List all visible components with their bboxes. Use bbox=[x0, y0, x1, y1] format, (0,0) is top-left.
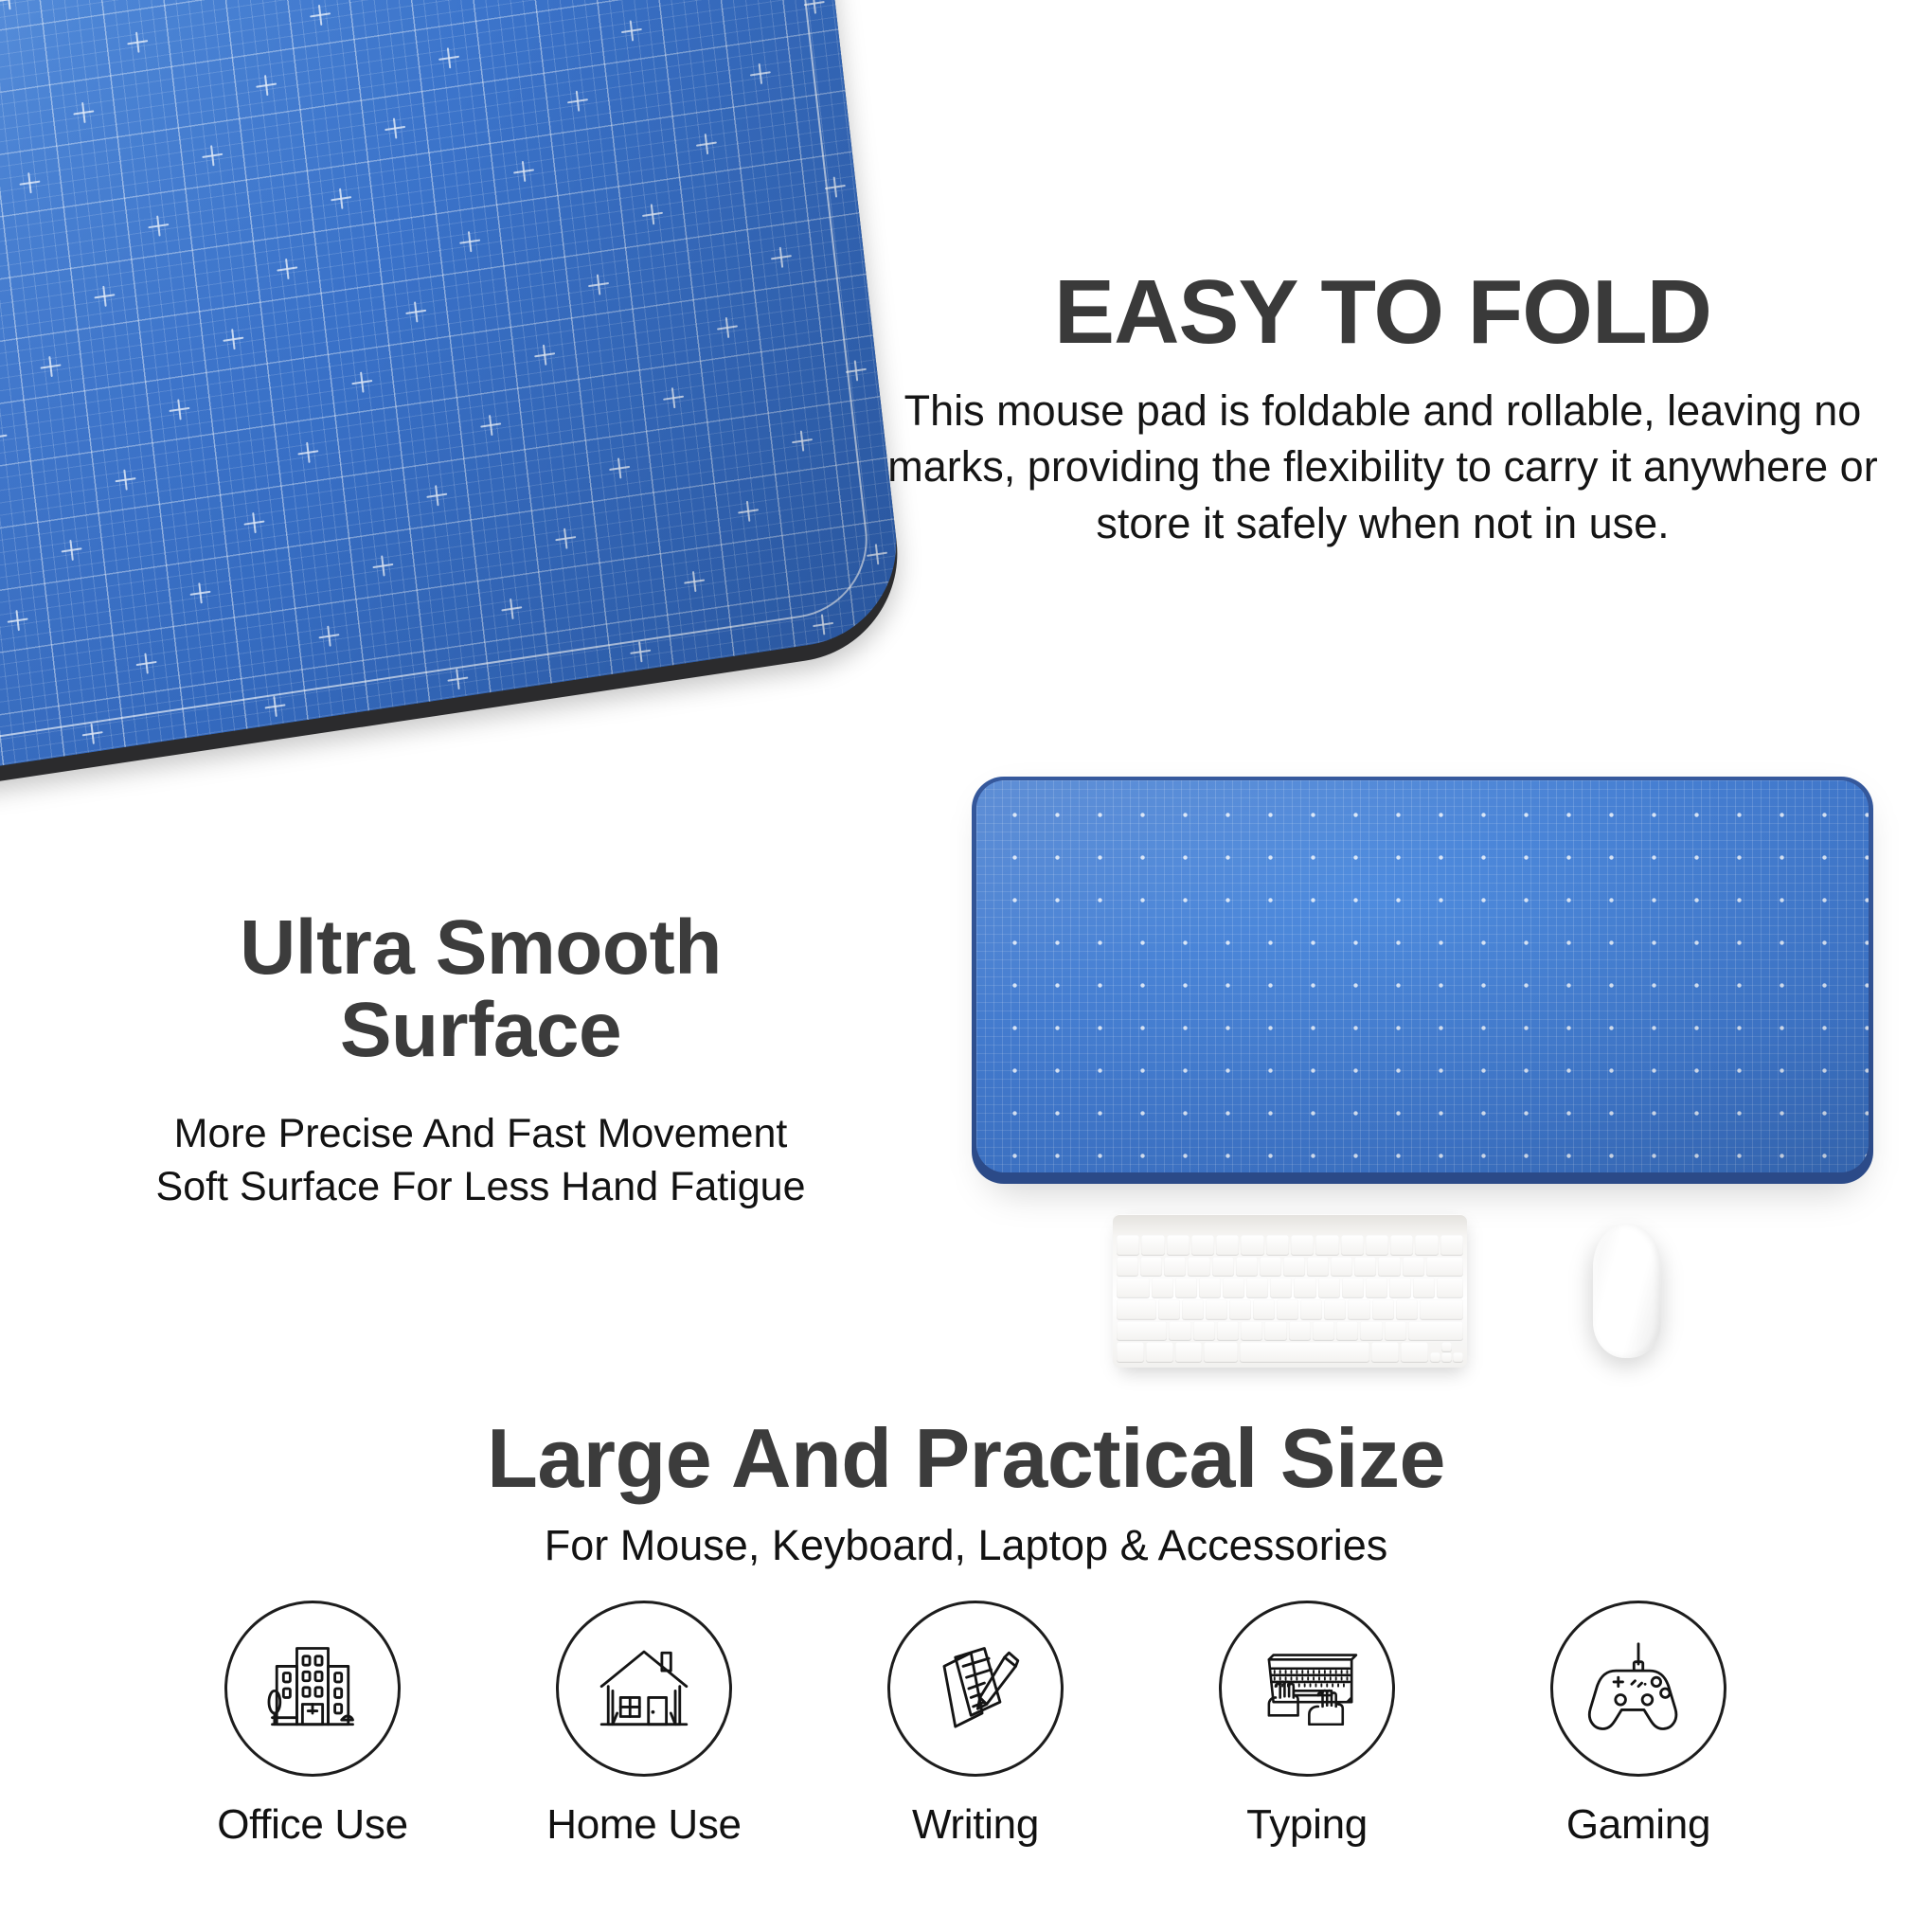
paper-and-pencil-icon bbox=[920, 1633, 1031, 1744]
feature-home-use[interactable]: Home Use bbox=[502, 1601, 786, 1849]
white-wireless-keyboard bbox=[1113, 1214, 1467, 1368]
keyboard-key bbox=[1366, 1278, 1387, 1297]
office-building-icon bbox=[257, 1633, 368, 1744]
feature-gaming[interactable]: Gaming bbox=[1496, 1601, 1780, 1849]
keyboard-key bbox=[1294, 1278, 1315, 1297]
keyboard-key bbox=[1117, 1257, 1138, 1277]
keyboard-key bbox=[1371, 1342, 1399, 1362]
keyboard-key-rows bbox=[1117, 1235, 1463, 1362]
keyboard-key bbox=[1441, 1342, 1452, 1351]
tilted-mouse-pad bbox=[0, 0, 908, 808]
writing-icon-circle bbox=[887, 1601, 1064, 1777]
keyboard-key bbox=[1441, 1352, 1452, 1362]
page-title-easy-to-fold: EASY TO FOLD bbox=[852, 267, 1913, 358]
ultra-smooth-heading: Ultra Smooth Surface bbox=[52, 907, 909, 1072]
keyboard-row bbox=[1117, 1278, 1463, 1297]
keyboard-key bbox=[1401, 1342, 1428, 1362]
keyboard-key bbox=[1158, 1299, 1180, 1319]
keyboard-body bbox=[1113, 1214, 1467, 1368]
ultra-smooth-heading-line2: Surface bbox=[340, 987, 621, 1073]
feature-label-gaming: Gaming bbox=[1566, 1801, 1710, 1849]
keyboard-key bbox=[1390, 1235, 1413, 1255]
flat-mouse-pad bbox=[972, 777, 1873, 1184]
keyboard-key bbox=[1341, 1235, 1364, 1255]
keyboard-key bbox=[1175, 1278, 1197, 1297]
keyboard-row bbox=[1117, 1321, 1463, 1341]
white-wireless-mouse bbox=[1593, 1224, 1661, 1358]
large-practical-size-section: Large And Practical Size For Mouse, Keyb… bbox=[189, 1417, 1743, 1570]
keyboard-key bbox=[1289, 1321, 1311, 1341]
keyboard-key bbox=[1117, 1342, 1144, 1362]
feature-typing[interactable]: Typing bbox=[1165, 1601, 1449, 1849]
keyboard-key bbox=[1264, 1321, 1286, 1341]
keyboard-key bbox=[1164, 1257, 1186, 1277]
flat-pad-sheen bbox=[976, 780, 1869, 1172]
keyboard-key bbox=[1389, 1278, 1411, 1297]
feature-label-typing: Typing bbox=[1246, 1801, 1368, 1849]
ultra-smooth-subtext-line2: Soft Surface For Less Hand Fatigue bbox=[156, 1164, 806, 1209]
feature-label-home-use: Home Use bbox=[546, 1801, 741, 1849]
keyboard-key bbox=[1182, 1299, 1204, 1319]
keyboard-key bbox=[1378, 1257, 1400, 1277]
keyboard-key bbox=[1300, 1299, 1322, 1319]
keyboard-key bbox=[1193, 1321, 1215, 1341]
feature-label-writing: Writing bbox=[912, 1801, 1039, 1849]
keyboard-key bbox=[1331, 1257, 1352, 1277]
keyboard-key bbox=[1313, 1321, 1334, 1341]
keyboard-key bbox=[1117, 1235, 1139, 1255]
keyboard-key bbox=[1167, 1235, 1190, 1255]
keyboard-key bbox=[1354, 1257, 1376, 1277]
keyboard-key bbox=[1283, 1257, 1305, 1277]
large-practical-size-subtitle: For Mouse, Keyboard, Laptop & Accessorie… bbox=[189, 1521, 1743, 1570]
keyboard-key bbox=[1403, 1257, 1424, 1277]
keyboard-key bbox=[1188, 1257, 1209, 1277]
keyboard-key bbox=[1430, 1352, 1440, 1362]
keyboard-key bbox=[1206, 1299, 1227, 1319]
keyboard-key bbox=[1140, 1257, 1162, 1277]
keyboard-key bbox=[1420, 1299, 1463, 1319]
keyboard-key bbox=[1223, 1278, 1244, 1297]
keyboard-key bbox=[1266, 1235, 1289, 1255]
feature-label-office-use: Office Use bbox=[217, 1801, 408, 1849]
ultra-smooth-surface-section: Ultra Smooth Surface More Precise And Fa… bbox=[52, 907, 909, 1214]
ultra-smooth-subtext: More Precise And Fast Movement Soft Surf… bbox=[52, 1108, 909, 1214]
keyboard-key bbox=[1426, 1257, 1463, 1277]
keyboard-key bbox=[1324, 1299, 1346, 1319]
keyboard-key bbox=[1408, 1321, 1463, 1341]
keyboard-key bbox=[1241, 1321, 1262, 1341]
keyboard-key bbox=[1191, 1235, 1214, 1255]
office-use-icon-circle bbox=[224, 1601, 401, 1777]
keyboard-key bbox=[1240, 1342, 1369, 1362]
keyboard-key bbox=[1291, 1235, 1314, 1255]
keyboard-hands-icon bbox=[1251, 1633, 1363, 1744]
keyboard-key bbox=[1169, 1321, 1190, 1341]
keyboard-key bbox=[1229, 1299, 1251, 1319]
keyboard-key bbox=[1413, 1278, 1435, 1297]
flat-pad-surface bbox=[976, 780, 1869, 1172]
keyboard-key bbox=[1336, 1321, 1358, 1341]
keyboard-key bbox=[1440, 1235, 1463, 1255]
home-use-icon-circle bbox=[556, 1601, 732, 1777]
keyboard-key bbox=[1453, 1352, 1463, 1362]
keyboard-key bbox=[1396, 1299, 1418, 1319]
keyboard-row bbox=[1117, 1299, 1463, 1319]
pad-sheen bbox=[0, 0, 906, 793]
keyboard-key bbox=[1307, 1257, 1329, 1277]
typing-icon-circle bbox=[1219, 1601, 1395, 1777]
keyboard-key bbox=[1270, 1278, 1292, 1297]
keyboard-row bbox=[1117, 1257, 1463, 1277]
keyboard-key bbox=[1117, 1278, 1150, 1297]
easy-to-fold-body: This mouse pad is foldable and rollable,… bbox=[852, 383, 1913, 551]
ultra-smooth-subtext-line1: More Precise And Fast Movement bbox=[174, 1111, 788, 1156]
easy-to-fold-section: EASY TO FOLD This mouse pad is foldable … bbox=[852, 267, 1913, 551]
keyboard-key bbox=[1318, 1278, 1340, 1297]
keyboard-key bbox=[1212, 1257, 1234, 1277]
keyboard-key bbox=[1360, 1321, 1382, 1341]
keyboard-key bbox=[1348, 1299, 1369, 1319]
keyboard-key bbox=[1152, 1278, 1173, 1297]
keyboard-key bbox=[1217, 1321, 1239, 1341]
keyboard-key bbox=[1246, 1278, 1268, 1297]
keyboard-key bbox=[1141, 1235, 1164, 1255]
tilted-pad-surface bbox=[0, 0, 906, 793]
keyboard-key bbox=[1199, 1278, 1221, 1297]
keyboard-key bbox=[1366, 1235, 1388, 1255]
feature-writing[interactable]: Writing bbox=[833, 1601, 1118, 1849]
keyboard-key bbox=[1117, 1299, 1156, 1319]
keyboard-key bbox=[1117, 1321, 1167, 1341]
mouse-body bbox=[1593, 1224, 1661, 1358]
keyboard-key bbox=[1216, 1235, 1239, 1255]
keyboard-key bbox=[1204, 1342, 1237, 1362]
keyboard-key bbox=[1241, 1235, 1263, 1255]
keyboard-key bbox=[1415, 1235, 1438, 1255]
keyboard-key bbox=[1175, 1342, 1203, 1362]
keyboard-key bbox=[1385, 1321, 1406, 1341]
house-icon bbox=[588, 1633, 700, 1744]
ultra-smooth-heading-line1: Ultra Smooth bbox=[240, 904, 722, 991]
keyboard-key bbox=[1372, 1299, 1394, 1319]
keyboard-row bbox=[1117, 1342, 1463, 1362]
large-practical-size-heading: Large And Practical Size bbox=[189, 1417, 1743, 1500]
keyboard-key bbox=[1342, 1278, 1364, 1297]
game-controller-icon bbox=[1583, 1633, 1694, 1744]
keyboard-key bbox=[1260, 1257, 1281, 1277]
keyboard-key bbox=[1277, 1299, 1298, 1319]
use-case-feature-row: Office Use Home Use bbox=[170, 1601, 1780, 1849]
keyboard-arrow-cluster bbox=[1430, 1342, 1463, 1362]
keyboard-key bbox=[1315, 1235, 1338, 1255]
keyboard-key bbox=[1236, 1257, 1258, 1277]
gaming-icon-circle bbox=[1550, 1601, 1726, 1777]
keyboard-key bbox=[1437, 1278, 1463, 1297]
keyboard-key bbox=[1253, 1299, 1275, 1319]
keyboard-row bbox=[1117, 1235, 1463, 1255]
keyboard-key bbox=[1146, 1342, 1173, 1362]
feature-office-use[interactable]: Office Use bbox=[170, 1601, 455, 1849]
